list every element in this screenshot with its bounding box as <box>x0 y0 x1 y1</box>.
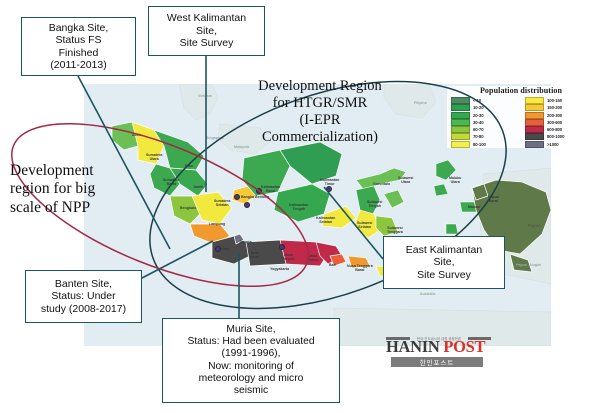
legend-item: 70-80 <box>451 133 486 140</box>
population-legend: Population distribution < 10 10-20 20-30… <box>447 86 595 148</box>
region-label-htgr-smr: Development Region for HTGR/SMR (I-EPR C… <box>222 78 418 146</box>
callout-banten-site[interactable]: Banten Site, Status: Under study (2008-2… <box>25 270 142 323</box>
legend-item: >1000 <box>525 141 564 148</box>
legend-label: 10-20 <box>473 105 484 110</box>
legend-label: >1000 <box>547 142 559 147</box>
callout-east-kalimantan-text: East Kalimantan Site, Site Survey <box>384 244 504 281</box>
site-marker-babel <box>244 202 250 208</box>
callout-banten-text: Banten Site, Status: Under study (2008-2… <box>26 278 141 315</box>
legend-swatch <box>451 97 470 104</box>
legend-item: 30-40 <box>451 119 486 126</box>
site-marker-banten <box>215 246 221 252</box>
site-marker-bangka <box>234 194 240 200</box>
legend-label: 150-200 <box>547 105 562 110</box>
callout-bangka-text: Bangka Site, Status FS Finished (2011-20… <box>22 22 135 72</box>
site-marker-muria <box>279 244 285 250</box>
legend-swatch <box>525 97 544 104</box>
legend-swatch <box>525 133 544 140</box>
watermark-korean-text: 한인포스트 <box>391 358 483 367</box>
legend-swatch <box>451 112 470 119</box>
legend-swatch <box>525 141 544 148</box>
site-marker-westkal <box>256 188 262 194</box>
callout-east-kalimantan-site[interactable]: East Kalimantan Site, Site Survey <box>383 236 505 289</box>
legend-item: < 10 <box>451 97 486 104</box>
legend-swatch <box>525 119 544 126</box>
legend-item: 10-20 <box>451 104 486 111</box>
region-label-big-scale-npp: Development region for big scale of NPP <box>10 162 150 217</box>
legend-swatch <box>525 104 544 111</box>
legend-label: 200-300 <box>547 113 562 118</box>
legend-item: 800-1000 <box>525 133 564 140</box>
legend-item: 20-30 <box>451 112 486 119</box>
watermark-korean-box: 한인포스트 <box>391 357 483 367</box>
legend-item: 150-200 <box>525 104 564 111</box>
legend-column-high: 100-150 150-200 200-300 300-600 600-800 … <box>525 97 564 148</box>
callout-muria-site[interactable]: Muria Site, Status: Had been evaluated (… <box>162 318 340 403</box>
watermark-name: HANIN POST <box>386 339 491 356</box>
legend-swatch <box>451 133 470 140</box>
legend-swatch <box>451 126 470 133</box>
legend-swatch <box>451 141 470 148</box>
legend-swatch <box>525 112 544 119</box>
figure-canvas: Aceh Sumatera Utara Riau Sumatera Barat … <box>0 0 600 413</box>
legend-label: 800-1000 <box>547 134 564 139</box>
watermark-name-hanin: HANIN <box>386 337 440 356</box>
legend-title: Population distribution <box>447 86 595 95</box>
legend-label: 30-40 <box>473 120 484 125</box>
legend-swatch <box>451 119 470 126</box>
legend-swatch <box>525 126 544 133</box>
legend-label: 80-100 <box>473 142 486 147</box>
legend-label: < 10 <box>473 98 481 103</box>
legend-item: 100-150 <box>525 97 564 104</box>
legend-label: 100-150 <box>547 98 562 103</box>
callout-west-kalimantan-site[interactable]: West Kalimantan Site, Site Survey <box>148 6 265 56</box>
callout-muria-text: Muria Site, Status: Had been evaluated (… <box>163 324 339 397</box>
legend-column-low: < 10 10-20 20-30 30-40 60-70 70-80 80-10… <box>451 97 486 148</box>
hanin-post-watermark: 한국·인도네시아 대표 공정언론 HANIN POST 한인포스트 <box>386 337 491 368</box>
legend-item: 200-300 <box>525 112 564 119</box>
legend-label: 70-80 <box>473 134 484 139</box>
site-marker-eastkal <box>326 186 332 192</box>
watermark-name-post: POST <box>443 337 485 356</box>
legend-label: 600-800 <box>547 127 562 132</box>
legend-item: 60-70 <box>451 126 486 133</box>
legend-label: 20-30 <box>473 113 484 118</box>
legend-item: 600-800 <box>525 126 564 133</box>
legend-label: 60-70 <box>473 127 484 132</box>
legend-label: 300-600 <box>547 120 562 125</box>
legend-swatch <box>451 104 470 111</box>
legend-item: 300-600 <box>525 119 564 126</box>
legend-item: 80-100 <box>451 141 486 148</box>
callout-bangka-site[interactable]: Bangka Site, Status FS Finished (2011-20… <box>21 17 136 76</box>
callout-west-kalimantan-text: West Kalimantan Site, Site Survey <box>149 12 264 49</box>
